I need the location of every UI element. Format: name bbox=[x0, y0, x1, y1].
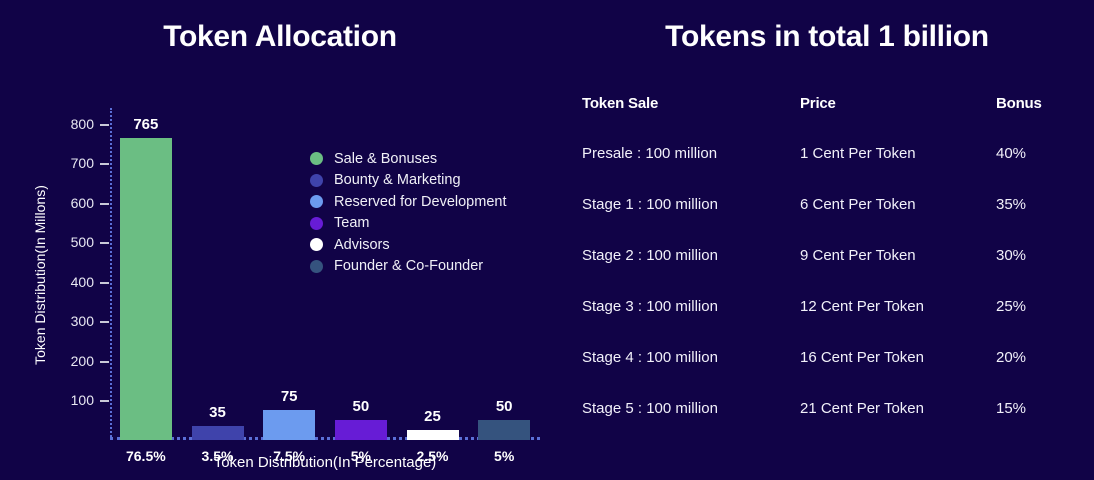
bar-value-label: 35 bbox=[209, 404, 226, 421]
cell-bonus: 35% bbox=[996, 196, 1062, 247]
table-title: Tokens in total 1 billion bbox=[560, 20, 1094, 54]
cell-token-sale: Presale : 100 million bbox=[582, 145, 800, 196]
y-axis-tick-label: 400 bbox=[71, 274, 94, 290]
cell-price: 21 Cent Per Token bbox=[800, 400, 996, 451]
table-row: Presale : 100 million1 Cent Per Token40% bbox=[582, 145, 1062, 196]
cell-bonus: 30% bbox=[996, 247, 1062, 298]
bar: 765 bbox=[120, 138, 172, 440]
table-row: Stage 5 : 100 million21 Cent Per Token15… bbox=[582, 400, 1062, 451]
table-row: Stage 4 : 100 million16 Cent Per Token20… bbox=[582, 349, 1062, 400]
legend-item[interactable]: Founder & Co-Founder bbox=[310, 256, 540, 278]
legend-item-label: Reserved for Development bbox=[334, 194, 506, 210]
cell-bonus: 20% bbox=[996, 349, 1062, 400]
y-axis-title: Token Distribution(In Millons) bbox=[30, 120, 50, 430]
y-axis-tick: 100 bbox=[100, 400, 109, 402]
legend-item-label: Founder & Co-Founder bbox=[334, 258, 483, 274]
legend-color-dot-icon bbox=[310, 152, 323, 165]
chart-legend: Sale & BonusesBounty & MarketingReserved… bbox=[310, 148, 540, 277]
bar: 50 bbox=[335, 420, 387, 440]
y-axis-tick-label: 100 bbox=[71, 392, 94, 408]
legend-item-label: Sale & Bonuses bbox=[334, 151, 437, 167]
y-axis-title-label: Token Distribution(In Millons) bbox=[32, 185, 48, 365]
infographic-page: Token Allocation Tokens in total 1 billi… bbox=[0, 0, 1094, 480]
legend-color-dot-icon bbox=[310, 217, 323, 230]
cell-price: 6 Cent Per Token bbox=[800, 196, 996, 247]
cell-price: 16 Cent Per Token bbox=[800, 349, 996, 400]
cell-price: 9 Cent Per Token bbox=[800, 247, 996, 298]
legend-item-label: Advisors bbox=[334, 237, 390, 253]
bar: 50 bbox=[478, 420, 530, 440]
y-axis-tick-label: 700 bbox=[71, 155, 94, 171]
cell-token-sale: Stage 1 : 100 million bbox=[582, 196, 800, 247]
x-axis-title: Token Distribution(In Percentage) bbox=[110, 454, 540, 471]
token-sale-table: Token Sale Price Bonus Presale : 100 mil… bbox=[582, 95, 1062, 451]
y-axis-tick: 700 bbox=[100, 163, 109, 165]
cell-price: 12 Cent Per Token bbox=[800, 298, 996, 349]
cell-token-sale: Stage 5 : 100 million bbox=[582, 400, 800, 451]
column-header-token-sale: Token Sale bbox=[582, 95, 800, 145]
cell-bonus: 40% bbox=[996, 145, 1062, 196]
bar: 25 bbox=[407, 430, 459, 440]
y-axis-tick: 600 bbox=[100, 203, 109, 205]
chart-title: Token Allocation bbox=[0, 20, 560, 54]
y-axis-tick: 300 bbox=[100, 321, 109, 323]
cell-price: 1 Cent Per Token bbox=[800, 145, 996, 196]
legend-item[interactable]: Bounty & Marketing bbox=[310, 170, 540, 192]
column-header-price: Price bbox=[800, 95, 996, 145]
y-axis-tick-label: 600 bbox=[71, 195, 94, 211]
y-axis-tick: 500 bbox=[100, 242, 109, 244]
cell-token-sale: Stage 4 : 100 million bbox=[582, 349, 800, 400]
table-header-row: Token Sale Price Bonus bbox=[582, 95, 1062, 145]
y-axis-tick-label: 800 bbox=[71, 116, 94, 132]
cell-token-sale: Stage 2 : 100 million bbox=[582, 247, 800, 298]
legend-item-label: Bounty & Marketing bbox=[334, 172, 461, 188]
legend-color-dot-icon bbox=[310, 260, 323, 273]
token-allocation-chart: Token Distribution(In Millons) 100200300… bbox=[0, 86, 560, 480]
table-row: Stage 1 : 100 million6 Cent Per Token35% bbox=[582, 196, 1062, 247]
y-axis-tick: 200 bbox=[100, 361, 109, 363]
y-axis-tick-label: 200 bbox=[71, 353, 94, 369]
y-axis-tick-label: 500 bbox=[71, 234, 94, 250]
y-axis-tick: 400 bbox=[100, 282, 109, 284]
token-sale-table-panel: Token Sale Price Bonus Presale : 100 mil… bbox=[560, 86, 1094, 480]
legend-color-dot-icon bbox=[310, 195, 323, 208]
bar-value-label: 50 bbox=[496, 398, 513, 415]
legend-item-label: Team bbox=[334, 215, 369, 231]
bar-value-label: 75 bbox=[281, 388, 298, 405]
legend-color-dot-icon bbox=[310, 238, 323, 251]
bar-value-label: 765 bbox=[133, 116, 158, 133]
legend-item[interactable]: Advisors bbox=[310, 234, 540, 256]
y-axis-tick: 800 bbox=[100, 124, 109, 126]
bar-value-label: 25 bbox=[424, 408, 441, 425]
legend-item[interactable]: Team bbox=[310, 213, 540, 235]
cell-token-sale: Stage 3 : 100 million bbox=[582, 298, 800, 349]
legend-item[interactable]: Sale & Bonuses bbox=[310, 148, 540, 170]
table-row: Stage 2 : 100 million9 Cent Per Token30% bbox=[582, 247, 1062, 298]
bar-value-label: 50 bbox=[352, 398, 369, 415]
legend-item[interactable]: Reserved for Development bbox=[310, 191, 540, 213]
column-header-bonus: Bonus bbox=[996, 95, 1062, 145]
cell-bonus: 15% bbox=[996, 400, 1062, 451]
cell-bonus: 25% bbox=[996, 298, 1062, 349]
bar: 35 bbox=[192, 426, 244, 440]
table-row: Stage 3 : 100 million12 Cent Per Token25… bbox=[582, 298, 1062, 349]
legend-color-dot-icon bbox=[310, 174, 323, 187]
y-axis-tick-label: 300 bbox=[71, 313, 94, 329]
bar: 75 bbox=[263, 410, 315, 440]
